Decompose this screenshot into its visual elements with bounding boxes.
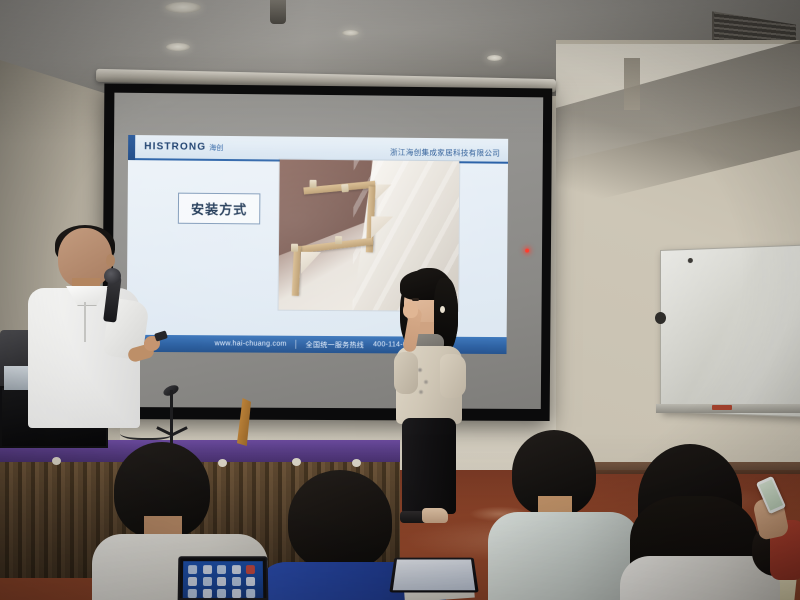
tablet-screen[interactable] — [393, 559, 475, 590]
projection-screen: HISTRONG海创 浙江海创集成家居科技有限公司 安装方式 — [102, 83, 552, 421]
laptop-desktop-icon[interactable] — [232, 577, 241, 586]
laptop-desktop-icon[interactable] — [246, 565, 255, 574]
presenter-female-hand — [403, 302, 418, 318]
skirt-stud-1-icon — [52, 457, 61, 465]
whiteboard-mount-knob — [655, 312, 666, 324]
presenter-female-trousers — [402, 418, 456, 514]
downlight-4-icon — [487, 55, 502, 61]
laptop-desktop-icon[interactable] — [203, 577, 212, 586]
audience-member-3-shirt — [488, 512, 640, 600]
slide-logo-text: HISTRONG — [144, 141, 206, 153]
laptop-desktop-icon[interactable] — [202, 589, 211, 598]
laptop-desktop-icon[interactable] — [232, 589, 241, 598]
laptop-desktop-icon[interactable] — [232, 565, 241, 574]
skirt-stud-5-icon — [352, 459, 361, 467]
microphone-stand-pole — [170, 390, 173, 446]
photo-clip-4-icon — [291, 244, 298, 252]
slide-footer-separator — [296, 340, 297, 349]
slide-footer-website: www.hai-chuang.com — [215, 340, 287, 347]
tablet[interactable] — [389, 558, 478, 593]
photo-clip-2-icon — [341, 184, 349, 193]
slide-title: 安装方式 — [178, 193, 261, 225]
skirt-stud-3-icon — [218, 459, 227, 467]
presenter-male-ear — [106, 254, 115, 267]
whiteboard-glare — [661, 246, 800, 417]
laptop-desktop-icon[interactable] — [203, 565, 212, 574]
whiteboard — [660, 244, 800, 417]
laptop-desktop-icon[interactable] — [217, 589, 226, 598]
presenter-female-sleeve-left — [394, 352, 418, 394]
laptop-screen[interactable] — [183, 561, 264, 598]
slide-brand-logo: HISTRONG海创 — [144, 141, 223, 153]
presenter-female-shoe-right — [422, 508, 448, 523]
presenter-female-top-print — [416, 364, 432, 398]
downlight-3-icon — [342, 30, 359, 36]
laptop-desktop-icon[interactable] — [217, 577, 226, 586]
photo-batten-lower — [292, 246, 301, 296]
presenter-female-earring-icon — [440, 306, 445, 313]
laptop[interactable] — [178, 556, 269, 600]
presenter-male — [22, 228, 154, 428]
slide-logo-text-cn: 海创 — [209, 145, 223, 152]
whiteboard-marker-icon — [712, 405, 732, 410]
skirt-stud-4-icon — [292, 458, 301, 466]
laptop-desktop-icon[interactable] — [188, 565, 197, 574]
presenter-female — [390, 268, 468, 538]
laptop-desktop-icon[interactable] — [188, 589, 197, 598]
downlight-1-icon — [165, 2, 201, 13]
laptop-desktop-icon[interactable] — [246, 589, 255, 598]
projection-surface: HISTRONG海创 浙江海创集成家居科技有限公司 安装方式 — [112, 93, 543, 409]
presenter-male-placket — [84, 302, 86, 342]
photo-clip-1-icon — [310, 180, 317, 188]
presenter-female-sleeve-right — [440, 354, 466, 398]
laptop-desktop-icon[interactable] — [217, 565, 226, 574]
audience-member-2-head — [288, 470, 392, 570]
laptop-desktop-icon[interactable] — [246, 577, 255, 586]
photo-bracket-3 — [301, 252, 321, 274]
laptop-desktop-icon[interactable] — [188, 577, 197, 586]
projector-mount — [270, 0, 286, 24]
slide-header-accent-bar — [128, 135, 135, 160]
photo-clip-3-icon — [335, 236, 342, 244]
laser-pointer-dot-icon — [525, 249, 529, 253]
door-frame — [624, 58, 640, 110]
slide-footer-hotline-label: 全国统一服务热线 — [306, 339, 364, 349]
presenter-female-eye — [412, 298, 419, 301]
handheld-microphone-head-icon — [104, 268, 121, 284]
downlight-2-icon — [166, 43, 190, 51]
slide-company-name: 浙江海创集成家居科技有限公司 — [390, 147, 500, 159]
photo-scene: HISTRONG海创 浙江海创集成家居科技有限公司 安装方式 — [0, 0, 800, 600]
